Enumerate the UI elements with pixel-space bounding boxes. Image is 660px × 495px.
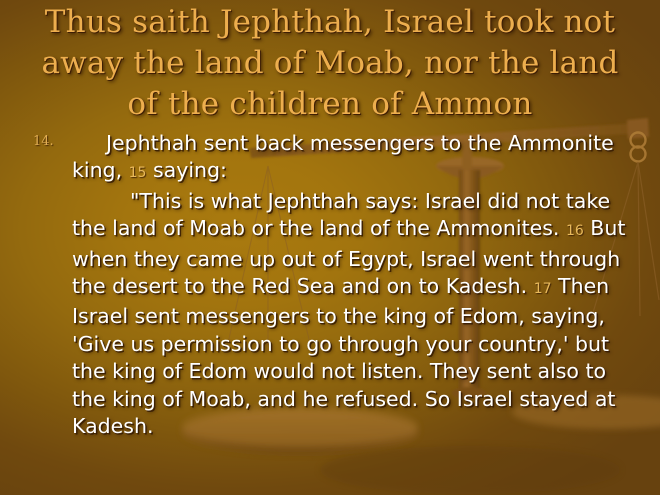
presentation-slide: Thus saith Jephthah, Israel took not awa… (0, 0, 660, 495)
paragraph-1-segment-2: saying: (146, 158, 227, 182)
scale-base-shadow (320, 446, 620, 494)
body-paragraph-2: "This is what Jephthah says: Israel did … (0, 188, 660, 441)
paragraph-2-segment-3: Then Israel sent messengers to the king … (72, 274, 615, 438)
title-line-2: away the land of Moab, nor the land (14, 43, 646, 84)
slide-title: Thus saith Jephthah, Israel took not awa… (14, 2, 646, 125)
list-number-marker: 14. (33, 134, 54, 149)
title-line-1: Thus saith Jephthah, Israel took not (14, 2, 646, 43)
paragraph-1-text: Jephthah sent back messengers to the Amm… (72, 130, 636, 188)
verse-number-15: 15 (129, 165, 147, 181)
verse-number-16: 16 (566, 223, 584, 239)
paragraph-2-text: "This is what Jephthah says: Israel did … (72, 188, 636, 441)
verse-number-17: 17 (534, 281, 552, 297)
slide-body: 14. Jephthah sent back messengers to the… (0, 130, 660, 440)
body-paragraph-1: 14. Jephthah sent back messengers to the… (0, 130, 660, 188)
paragraph-2-segment-1: "This is what Jephthah says: Israel did … (72, 189, 610, 240)
title-line-3: of the children of Ammon (14, 84, 646, 125)
